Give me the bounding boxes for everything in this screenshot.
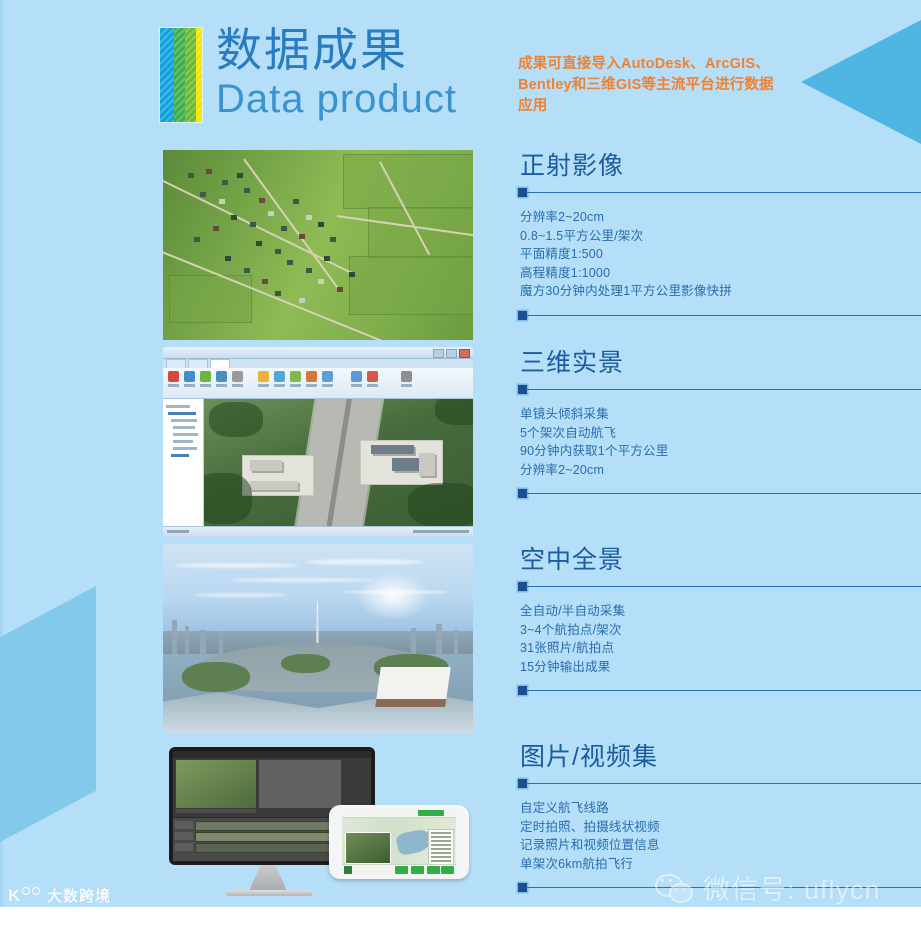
list-item: 3~4个航拍点/架次 bbox=[520, 621, 921, 640]
section-aerial-panorama-body: 空中全景 全自动/半自动采集 3~4个航拍点/架次 31张照片/航拍点 15分钟… bbox=[518, 544, 921, 696]
list-item: 5个架次自动航飞 bbox=[520, 424, 921, 443]
list-item: 全自动/半自动采集 bbox=[520, 602, 921, 621]
list-item: 单镜头倾斜采集 bbox=[520, 405, 921, 424]
list-item: 记录照片和视频位置信息 bbox=[520, 836, 921, 855]
page-title-en: Data product bbox=[216, 76, 457, 122]
list-item: 分辨率2~20cm bbox=[520, 461, 921, 480]
section-title: 空中全景 bbox=[520, 544, 921, 576]
page-title-cn: 数据成果 bbox=[216, 24, 457, 76]
section-rule-top bbox=[518, 779, 921, 789]
section-rule-bottom bbox=[518, 311, 921, 321]
section-orthophoto-body: 正射影像 分辨率2~20cm 0.8~1.5平方公里/架次 平面精度1:500 … bbox=[518, 150, 921, 321]
list-item: 自定义航飞线路 bbox=[520, 799, 921, 818]
section-rule-bottom bbox=[518, 686, 921, 696]
section-orthophoto: 正射影像 分辨率2~20cm 0.8~1.5平方公里/架次 平面精度1:500 … bbox=[0, 150, 921, 347]
section-rule-bottom bbox=[518, 489, 921, 499]
bottom-white-bar bbox=[0, 907, 921, 925]
list-item: 0.8~1.5平方公里/架次 bbox=[520, 227, 921, 246]
list-item: 分辨率2~20cm bbox=[520, 208, 921, 227]
section-spec-list: 单镜头倾斜采集 5个架次自动航飞 90分钟内获取1个平方公里 分辨率2~20cm bbox=[520, 405, 921, 479]
title-block: 数据成果 Data product bbox=[216, 24, 457, 122]
footer-logo: K 大数跨境 bbox=[8, 885, 111, 906]
section-spec-list: 分辨率2~20cm 0.8~1.5平方公里/架次 平面精度1:500 高程精度1… bbox=[520, 208, 921, 301]
3d-oblique-software-screenshot-image bbox=[163, 347, 473, 537]
section-rule-top bbox=[518, 385, 921, 395]
orthophoto-village-aerial-image bbox=[163, 150, 473, 340]
section-title: 正射影像 bbox=[520, 150, 921, 182]
section-rule-top bbox=[518, 188, 921, 198]
wechat-watermark: 微信号: uflycn bbox=[655, 868, 881, 907]
section-3d-realscene-body: 三维实景 单镜头倾斜采集 5个架次自动航飞 90分钟内获取1个平方公里 分辨率2… bbox=[518, 347, 921, 499]
list-item: 魔方30分钟内处理1平方公里影像快拼 bbox=[520, 282, 921, 301]
list-item: 平面精度1:500 bbox=[520, 245, 921, 264]
sections-container: 正射影像 分辨率2~20cm 0.8~1.5平方公里/架次 平面精度1:500 … bbox=[0, 150, 921, 925]
striped-brand-mark-icon bbox=[160, 28, 202, 122]
list-item: 定时拍照、拍摄线状视频 bbox=[520, 818, 921, 837]
footer-logo-text: 大数跨境 bbox=[47, 885, 111, 906]
monitor-and-phone-devices-image bbox=[163, 741, 473, 925]
section-aerial-panorama: 空中全景 全自动/半自动采集 3~4个航拍点/架次 31张照片/航拍点 15分钟… bbox=[0, 544, 921, 741]
smartphone-icon bbox=[329, 805, 469, 879]
section-title: 三维实景 bbox=[520, 347, 921, 379]
aerial-panorama-cityscape-image bbox=[163, 544, 473, 734]
list-item: 高程精度1:1000 bbox=[520, 264, 921, 283]
list-item: 15分钟输出成果 bbox=[520, 658, 921, 677]
wechat-icon bbox=[655, 874, 695, 902]
poster-canvas: 数据成果 Data product 成果可直接导入AutoDesk、ArcGIS… bbox=[0, 0, 921, 925]
page-header: 数据成果 Data product bbox=[160, 28, 457, 122]
list-item: 31张照片/航拍点 bbox=[520, 639, 921, 658]
header-tagline: 成果可直接导入AutoDesk、ArcGIS、Bentley和三维GIS等主流平… bbox=[518, 54, 788, 117]
list-item: 90分钟内获取1个平方公里 bbox=[520, 442, 921, 461]
top-right-triangle-decoration bbox=[801, 20, 921, 144]
section-spec-list: 自定义航飞线路 定时拍照、拍摄线状视频 记录照片和视频位置信息 单架次6km航拍… bbox=[520, 799, 921, 873]
section-rule-top bbox=[518, 582, 921, 592]
section-3d-realscene: 三维实景 单镜头倾斜采集 5个架次自动航飞 90分钟内获取1个平方公里 分辨率2… bbox=[0, 347, 921, 544]
wechat-watermark-text: 微信号: uflycn bbox=[703, 868, 881, 907]
section-spec-list: 全自动/半自动采集 3~4个航拍点/架次 31张照片/航拍点 15分钟输出成果 bbox=[520, 602, 921, 676]
dashu-kuajing-logo-mark-icon: K bbox=[8, 886, 42, 906]
section-title: 图片/视频集 bbox=[520, 741, 921, 773]
